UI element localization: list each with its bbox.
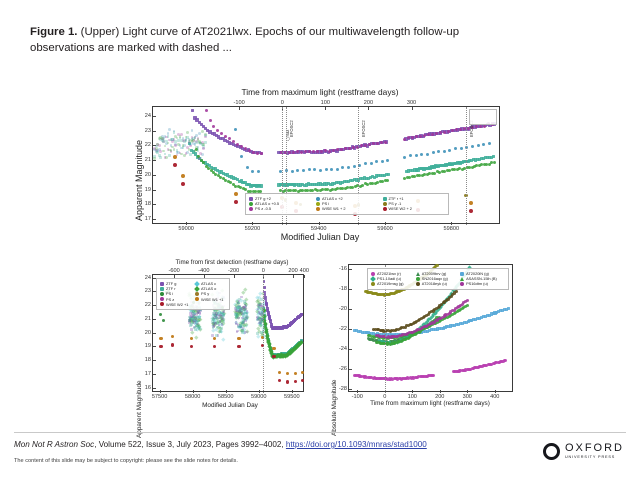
x-tick-label: 59600 <box>377 226 393 232</box>
lower-left-plot-area: 5750058000585005900059500161718192021222… <box>152 274 304 392</box>
y-tick-label: 16 <box>139 385 151 391</box>
legend-marker <box>371 272 375 276</box>
upper-plot-area: 5900059200594005960059800171819202122232… <box>152 106 500 224</box>
x-tick-mark <box>440 390 441 393</box>
x-tick-mark <box>357 390 358 393</box>
x-tick-mark <box>451 222 452 225</box>
y-tick-mark <box>153 175 156 176</box>
y-tick-mark <box>153 319 156 320</box>
first-detection-line <box>263 275 264 393</box>
y-tick-mark <box>349 289 352 290</box>
top-x-tick-label: 400 <box>300 268 309 274</box>
y-tick-label: 21 <box>139 157 151 163</box>
top-x-tick-mark <box>239 107 240 110</box>
x-tick-mark <box>193 390 194 393</box>
legend-label: PS z -0.5 <box>255 206 271 211</box>
journal-name: Mon Not R Astron Soc <box>14 440 94 449</box>
top-x-tick-mark <box>293 275 294 278</box>
legend-label: WISE W1 + 2 <box>322 206 345 211</box>
figure-caption: Figure 1. (Upper) Light curve of AT2021l… <box>30 24 500 56</box>
y-tick-mark <box>153 204 156 205</box>
x-tick-mark <box>412 390 413 393</box>
x-tick-label: -100 <box>352 394 363 400</box>
legend-item[interactable]: WISE W1 +1 <box>195 297 226 302</box>
y-tick-label: -26 <box>335 366 347 372</box>
y-tick-label: 19 <box>139 187 151 193</box>
legend-item[interactable]: WISE W1 + 2 <box>316 206 378 211</box>
legend-label: AT2018eyk (u) <box>422 281 447 286</box>
secondary-legend[interactable] <box>469 109 497 125</box>
x-tick-mark <box>259 390 260 393</box>
top-x-tick-label: -200 <box>228 268 239 274</box>
y-tick-label: -28 <box>335 386 347 392</box>
y-tick-label: 22 <box>139 142 151 148</box>
citation-line: Mon Not R Astron Soc, Volume 522, Issue … <box>14 440 427 449</box>
legend-marker <box>460 272 464 276</box>
oxford-subtitle: UNIVERSITY PRESS <box>565 456 624 460</box>
top-x-tick-label: 0 <box>262 268 265 274</box>
top-x-tick-label: -400 <box>198 268 209 274</box>
x-tick-label: 59200 <box>245 226 261 232</box>
y-tick-label: -24 <box>335 346 347 352</box>
top-x-tick-label: -100 <box>234 100 245 106</box>
legend-label: WISE W2 + 2 <box>389 206 412 211</box>
top-x-tick-label: 200 <box>288 268 297 274</box>
slide: Figure 1. (Upper) Light curve of AT2021l… <box>0 0 640 480</box>
top-x-tick-mark <box>368 107 369 110</box>
x-tick-label: 59000 <box>251 394 267 400</box>
x-tick-mark <box>385 222 386 225</box>
citation-detail: , Volume 522, Issue 3, July 2023, Pages … <box>94 440 286 449</box>
y-tick-mark <box>349 369 352 370</box>
legend-marker <box>195 297 199 301</box>
legend-marker <box>416 277 420 281</box>
legend-marker <box>160 282 164 286</box>
legend-marker <box>371 282 375 286</box>
x-tick-mark <box>160 390 161 393</box>
x-tick-label: 59800 <box>444 226 460 232</box>
legend-marker <box>416 282 420 286</box>
top-x-tick-mark <box>234 275 235 278</box>
x-tick-label: 58000 <box>185 394 201 400</box>
legend-item[interactable]: AT2019msg (g) <box>371 281 412 286</box>
y-tick-label: 24 <box>139 275 151 281</box>
x-tick-label: 200 <box>435 394 444 400</box>
y-tick-mark <box>153 116 156 117</box>
legend-marker <box>160 292 164 296</box>
legend-label: PS16dtm (u) <box>466 281 488 286</box>
y-tick-mark <box>153 160 156 161</box>
x-tick-label: 100 <box>408 394 417 400</box>
x-tick-mark <box>186 222 187 225</box>
x-tick-mark <box>292 390 293 393</box>
legend-marker <box>460 277 464 281</box>
lowerleft-top-axis-label: Time from first detection (restframe day… <box>137 259 327 266</box>
legend-marker <box>460 282 464 286</box>
y-tick-label: 19 <box>139 343 151 349</box>
y-tick-mark <box>153 360 156 361</box>
top-x-tick-label: 200 <box>364 100 373 106</box>
y-tick-mark <box>349 389 352 390</box>
y-tick-label: 22 <box>139 302 151 308</box>
top-x-tick-label: 300 <box>407 100 416 106</box>
top-x-tick-label: 0 <box>281 100 284 106</box>
x-tick-label: 59000 <box>178 226 194 232</box>
y-tick-label: 17 <box>139 216 151 222</box>
y-tick-label: 18 <box>139 357 151 363</box>
x-tick-label: 57500 <box>152 394 168 400</box>
y-tick-label: 17 <box>139 371 151 377</box>
oxford-wordmark: OXFORD <box>565 443 624 454</box>
legend-marker <box>316 197 320 201</box>
y-tick-mark <box>349 269 352 270</box>
x-tick-label: 400 <box>490 394 499 400</box>
epoch-line <box>466 107 467 225</box>
lowerleft-x-axis-label: Modified Julian Day <box>155 402 305 409</box>
x-tick-mark <box>226 390 227 393</box>
plot-legend[interactable]: ZTF g +2ATLAS c +2ZTF r +1ATLAS o +0.5PS… <box>245 193 449 215</box>
epoch-label: EFOSC2 <box>361 120 366 137</box>
x-tick-mark <box>319 222 320 225</box>
y-tick-mark <box>153 219 156 220</box>
y-tick-mark <box>153 190 156 191</box>
copyright-note: The content of this slide may be subject… <box>14 458 238 464</box>
legend-marker <box>383 207 387 211</box>
x-tick-label: 300 <box>463 394 472 400</box>
legend-item[interactable]: PS z -0.5 <box>249 206 312 211</box>
y-tick-mark <box>153 346 156 347</box>
y-tick-mark <box>153 374 156 375</box>
y-tick-mark <box>153 131 156 132</box>
x-tick-label: 59500 <box>284 394 300 400</box>
legend-marker <box>249 207 253 211</box>
legend-label: AT2019msg (g) <box>377 281 404 286</box>
y-tick-label: -16 <box>335 266 347 272</box>
x-tick-label: 58500 <box>218 394 234 400</box>
top-x-tick-label: -600 <box>169 268 180 274</box>
plot-legend[interactable]: AT2021lwx (r)AT2009brv (g)AT2020iN (g)PS… <box>367 268 509 290</box>
oxford-ring-icon <box>543 443 560 460</box>
upper-top-axis-label: Time from maximum light (restframe days) <box>175 87 465 97</box>
y-tick-mark <box>349 349 352 350</box>
y-tick-mark <box>349 309 352 310</box>
legend-marker <box>195 292 199 296</box>
epoch-label: EFOSC2 <box>289 120 294 137</box>
figure-caption-text: (Upper) Light curve of AT2021lwx. Epochs… <box>30 26 459 54</box>
x-tick-label: 0 <box>383 394 386 400</box>
upper-x-axis-label: Modified Julian Day <box>200 232 440 242</box>
oxford-university-press-logo: OXFORD UNIVERSITY PRESS <box>543 443 624 460</box>
lower-right-plot-area: -1000100200300400-28-26-24-22-20-18-16AT… <box>348 264 513 392</box>
top-x-tick-mark <box>412 107 413 110</box>
top-x-tick-mark <box>325 107 326 110</box>
plot-legend[interactable]: ZTF gATLAS cZTF rATLAS oPS iPS yPS zWISE… <box>156 278 230 310</box>
legend-marker <box>316 202 320 206</box>
y-tick-label: -22 <box>335 326 347 332</box>
top-x-tick-mark <box>304 275 305 278</box>
legend-marker <box>249 197 253 201</box>
y-tick-label: 23 <box>139 128 151 134</box>
lowerright-x-axis-label: Time from maximum light (restframe days) <box>335 400 525 407</box>
legend-marker <box>383 202 387 206</box>
y-tick-mark <box>153 388 156 389</box>
y-tick-label: -20 <box>335 306 347 312</box>
legend-marker <box>316 207 320 211</box>
legend-item[interactable]: PS16dtm (u) <box>460 281 505 286</box>
legend-marker <box>383 197 387 201</box>
y-tick-label: 20 <box>139 172 151 178</box>
legend-marker <box>160 302 164 306</box>
y-tick-label: 21 <box>139 316 151 322</box>
y-tick-label: 23 <box>139 288 151 294</box>
y-tick-mark <box>349 329 352 330</box>
footer-divider <box>14 432 626 433</box>
y-tick-mark <box>153 333 156 334</box>
y-tick-label: -18 <box>335 286 347 292</box>
y-tick-label: 20 <box>139 330 151 336</box>
upper-y-axis-label: Apparent Magnitude <box>134 140 144 221</box>
y-tick-label: 24 <box>139 113 151 119</box>
figure-image: Time from maximum light (restframe days)… <box>0 88 640 418</box>
y-tick-label: 18 <box>139 201 151 207</box>
x-tick-label: 59400 <box>311 226 327 232</box>
x-tick-mark <box>467 390 468 393</box>
legend-marker <box>249 202 253 206</box>
x-tick-mark <box>252 222 253 225</box>
top-x-tick-label: 100 <box>321 100 330 106</box>
legend-item[interactable]: WISE W2 +1 <box>160 302 191 307</box>
legend-marker <box>160 297 164 301</box>
legend-item[interactable]: WISE W2 + 2 <box>383 206 445 211</box>
figure-caption-label: Figure 1. <box>30 26 77 38</box>
doi-link[interactable]: https://doi.org/10.1093/mnras/stad1000 <box>286 440 427 449</box>
legend-item[interactable]: AT2018eyk (u) <box>416 281 456 286</box>
legend-label: WISE W1 +1 <box>201 297 223 302</box>
legend-marker <box>416 272 420 276</box>
legend-label: WISE W2 +1 <box>166 302 188 307</box>
x-tick-mark <box>495 390 496 393</box>
legend-marker <box>160 287 164 291</box>
